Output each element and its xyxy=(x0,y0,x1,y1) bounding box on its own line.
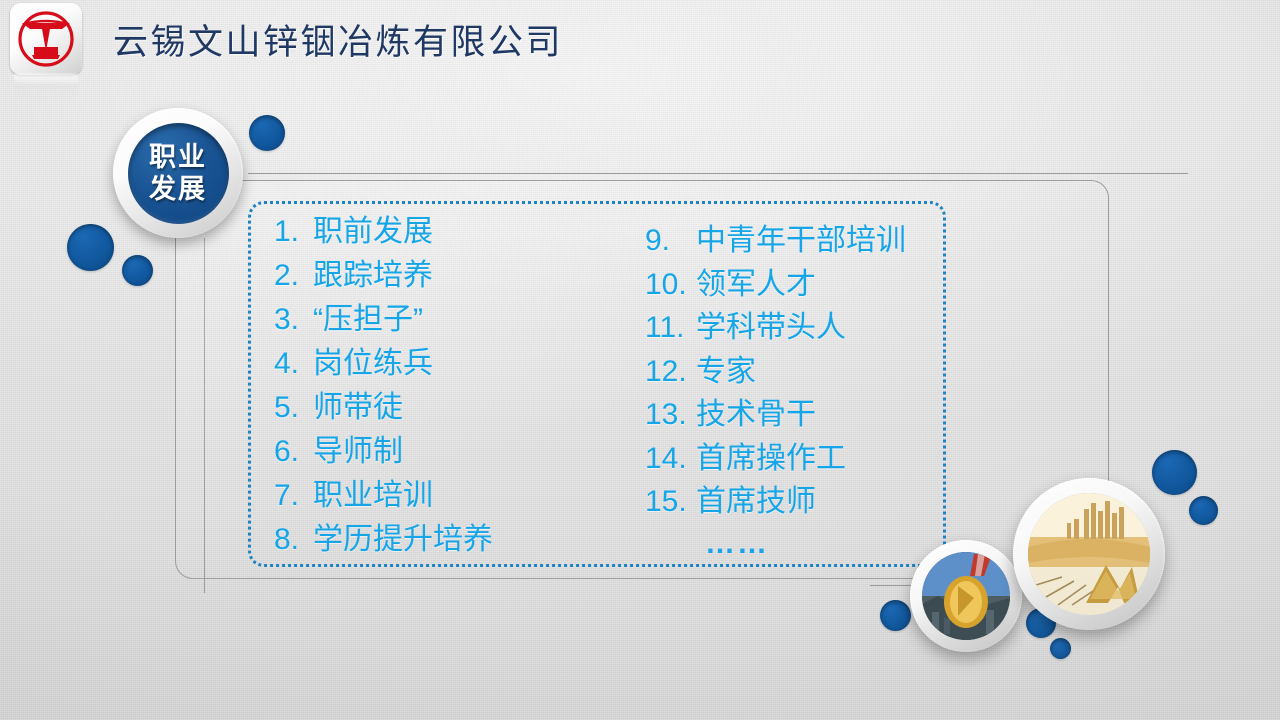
connector-line-top xyxy=(248,173,1188,174)
deco-dot-8 xyxy=(1050,638,1071,659)
slide-canvas: 云锡文山锌铟冶炼有限公司 职业 发展 1.职前发展2.跟踪培养3.“压担子”4.… xyxy=(0,0,1280,720)
list-item-number: 2. xyxy=(274,254,308,298)
list-item-right-1: 9.中青年干部培训 xyxy=(645,219,975,263)
deco-dot-5 xyxy=(1189,496,1218,525)
list-item-left-2: 2.跟踪培养 xyxy=(274,254,604,298)
badge-line-2: 发展 xyxy=(149,173,207,205)
deco-dot-2 xyxy=(67,224,114,271)
career-list-left: 1.职前发展2.跟踪培养3.“压担子”4.岗位练兵5.师带徒6.导师制7.职业培… xyxy=(274,210,604,562)
list-item-right-5: 13.技术骨干 xyxy=(645,393,975,437)
list-item-label: 师带徒 xyxy=(313,386,403,430)
list-item-right-6: 14.首席操作工 xyxy=(645,437,975,481)
list-item-label: 职业培训 xyxy=(313,474,433,518)
list-item-label: 技术骨干 xyxy=(696,393,816,437)
list-item-label: 学科带头人 xyxy=(696,306,846,350)
list-item-number: 7. xyxy=(274,474,308,518)
list-item-number: 8. xyxy=(274,518,308,562)
list-item-left-1: 1.职前发展 xyxy=(274,210,604,254)
photo-city-image xyxy=(1028,493,1150,615)
list-item-label: 中青年干部培训 xyxy=(696,219,906,263)
page-title: 云锡文山锌铟冶炼有限公司 xyxy=(113,14,563,65)
slide-header: 云锡文山锌铟冶炼有限公司 xyxy=(0,0,1280,88)
list-item-label: 跟踪培养 xyxy=(313,254,433,298)
list-item-number: 11. xyxy=(645,306,691,350)
list-item-label: 导师制 xyxy=(313,430,403,474)
list-item-number: 5. xyxy=(274,386,308,430)
list-item-left-4: 4.岗位练兵 xyxy=(274,342,604,386)
section-badge: 职业 发展 xyxy=(113,108,243,238)
list-item-number: 4. xyxy=(274,342,308,386)
list-item-label: 职前发展 xyxy=(313,210,433,254)
career-list-right: 9.中青年干部培训10.领军人才11.学科带头人12.专家13.技术骨干14.首… xyxy=(645,219,975,564)
list-item-number: 12. xyxy=(645,350,691,394)
list-item-number: 14. xyxy=(645,437,691,481)
list-item-number: 1. xyxy=(274,210,308,254)
photo-medal-image xyxy=(922,552,1010,640)
list-item-number: 6. xyxy=(274,430,308,474)
list-item-left-3: 3.“压担子” xyxy=(274,298,604,342)
list-item-number: 13. xyxy=(645,393,691,437)
list-item-label: 首席技师 xyxy=(696,480,816,524)
photo-circle-medal xyxy=(910,540,1022,652)
deco-dot-1 xyxy=(249,115,285,151)
list-item-label: “压担子” xyxy=(313,298,423,342)
list-item-label: 领军人才 xyxy=(696,263,816,307)
list-item-number: 15. xyxy=(645,480,691,524)
badge-line-1: 职业 xyxy=(149,141,207,173)
list-item-left-8: 8.学历提升培养 xyxy=(274,518,604,562)
list-item-label: 专家 xyxy=(696,350,756,394)
list-item-left-5: 5.师带徒 xyxy=(274,386,604,430)
list-item-right-3: 11.学科带头人 xyxy=(645,306,975,350)
list-item-label: 首席操作工 xyxy=(696,437,846,481)
list-item-right-4: 12.专家 xyxy=(645,350,975,394)
list-item-left-6: 6.导师制 xyxy=(274,430,604,474)
section-badge-inner: 职业 发展 xyxy=(128,123,229,224)
list-item-right-7: 15.首席技师 xyxy=(645,480,975,524)
list-item-number: 10. xyxy=(645,263,691,307)
company-emblem-icon xyxy=(10,3,82,75)
list-item-label: 岗位练兵 xyxy=(313,342,433,386)
deco-dot-3 xyxy=(122,255,153,286)
list-item-left-7: 7.职业培训 xyxy=(274,474,604,518)
deco-dot-6 xyxy=(880,600,911,631)
logo-reflection xyxy=(14,74,78,100)
list-item-number: 3. xyxy=(274,298,308,342)
deco-dot-4 xyxy=(1152,450,1197,495)
list-item-number: 9. xyxy=(645,219,691,263)
list-item-right-2: 10.领军人才 xyxy=(645,263,975,307)
photo-circle-city xyxy=(1013,478,1165,630)
list-item-label: 学历提升培养 xyxy=(313,518,493,562)
